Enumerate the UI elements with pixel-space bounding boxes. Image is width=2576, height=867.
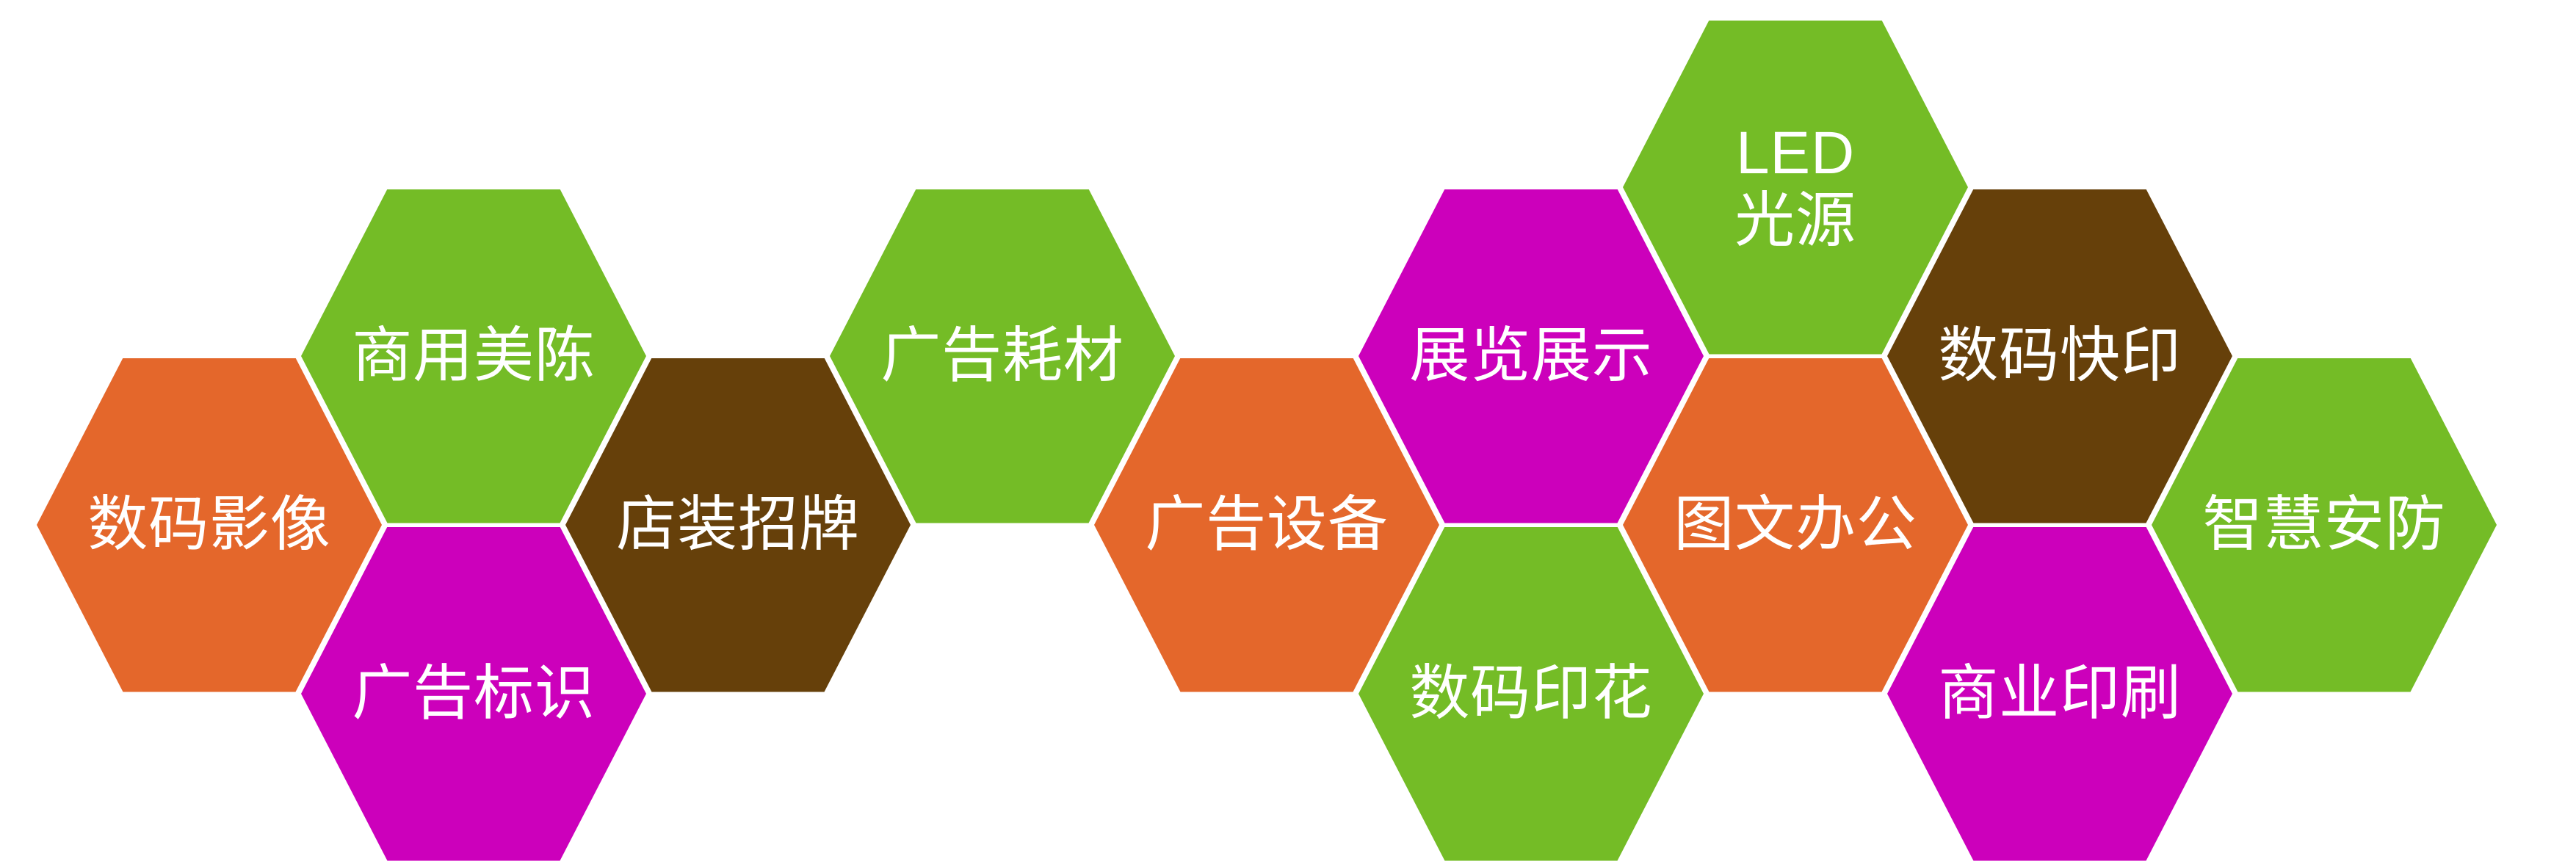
hex-label-advertising-equipment: 广告设备 xyxy=(1124,491,1409,559)
hex-label-shop-decoration-signboard: 店装招牌 xyxy=(596,491,880,559)
hex-label-commercial-display: 商用美陈 xyxy=(331,322,616,390)
hex-label-exhibition-display: 展览展示 xyxy=(1389,322,1674,390)
hex-label-graphic-office: 图文办公 xyxy=(1653,491,1938,559)
hex-label-smart-security: 智慧安防 xyxy=(2182,491,2467,559)
hex-label-led-light-source: LED 光源 xyxy=(1714,120,1877,255)
hex-label-digital-quick-print: 数码快印 xyxy=(1917,322,2202,390)
hex-label-advertising-signage: 广告标识 xyxy=(331,660,616,728)
hexagon-diagram-canvas: 数码影像商用美陈广告标识店装招牌广告耗材广告设备展览展示数码印花LED 光源图文… xyxy=(0,0,2576,867)
hex-label-commercial-printing: 商业印刷 xyxy=(1917,660,2202,728)
hex-label-advertising-consumables: 广告耗材 xyxy=(860,322,1145,390)
hex-label-digital-imaging: 数码影像 xyxy=(67,491,352,559)
hex-label-digital-printing-textile: 数码印花 xyxy=(1389,660,1674,728)
